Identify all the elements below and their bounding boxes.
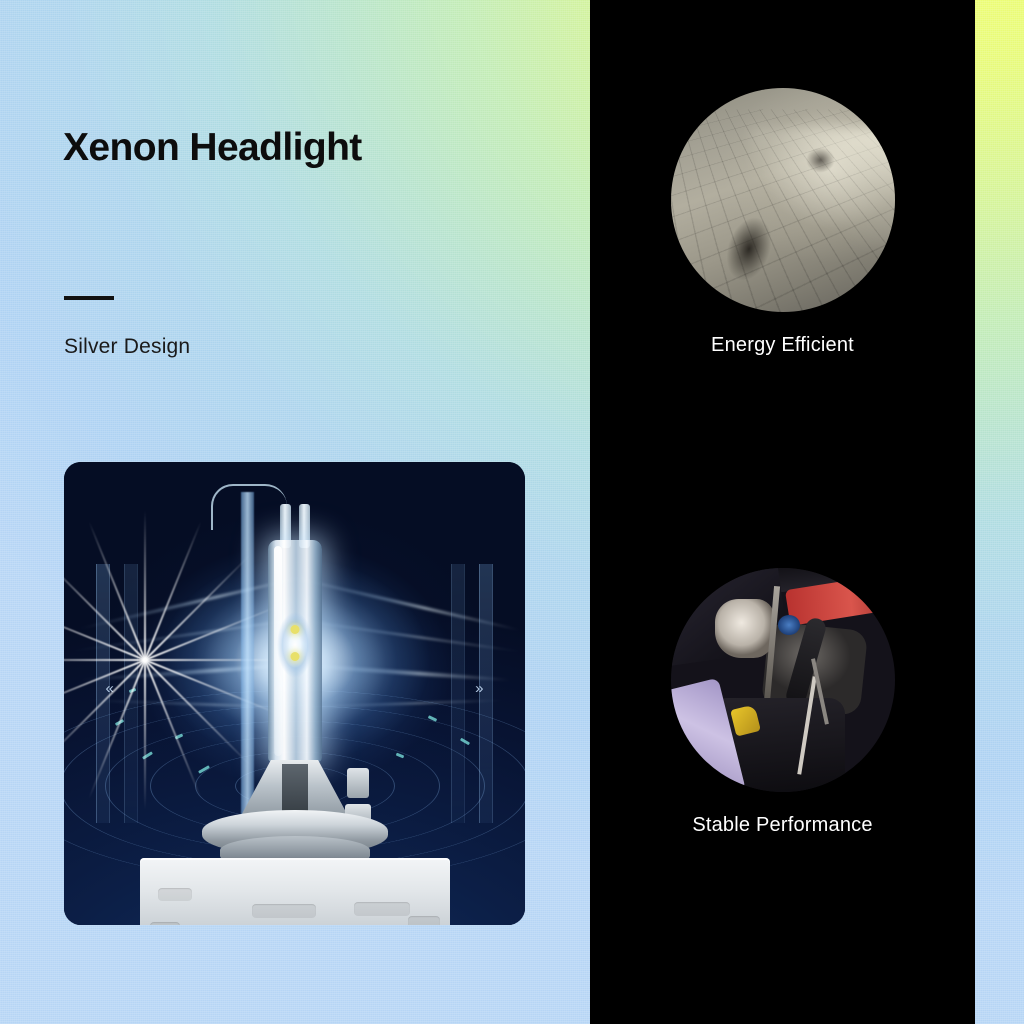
bulb-wire <box>211 484 287 530</box>
title-divider-rule <box>64 296 114 300</box>
feature-item-stable-performance[interactable]: Stable Performance <box>590 568 975 837</box>
bulb-ballast-box <box>140 858 450 925</box>
bulb-electrode-dot-upper <box>290 625 299 634</box>
feature-label: Energy Efficient <box>590 334 975 357</box>
bulb-lug-upper <box>347 768 369 798</box>
feature-list: Energy Efficient <box>590 0 975 1024</box>
headlight-beam-streak <box>751 128 894 249</box>
product-image-card[interactable]: « » <box>64 462 525 925</box>
feature-label: Stable Performance <box>590 814 975 837</box>
energy-efficient-photo <box>671 88 895 312</box>
promo-banner: Xenon Headlight Silver Design « » <box>0 0 1024 1024</box>
engine-bay-image <box>671 568 895 792</box>
left-column: Xenon Headlight Silver Design « » <box>0 0 590 1024</box>
subtitle-label: Silver Design <box>64 335 190 359</box>
xenon-bulb-illustration <box>195 462 395 925</box>
bulb-electrode-dot-lower <box>290 652 299 661</box>
chevron-right-icon: » <box>475 680 483 697</box>
stable-performance-photo <box>671 568 895 792</box>
bulb-arc-glow <box>275 612 315 678</box>
page-title: Xenon Headlight <box>63 126 362 170</box>
feature-item-energy-efficient[interactable]: Energy Efficient <box>590 88 975 357</box>
blue-blade-accent <box>241 492 254 822</box>
